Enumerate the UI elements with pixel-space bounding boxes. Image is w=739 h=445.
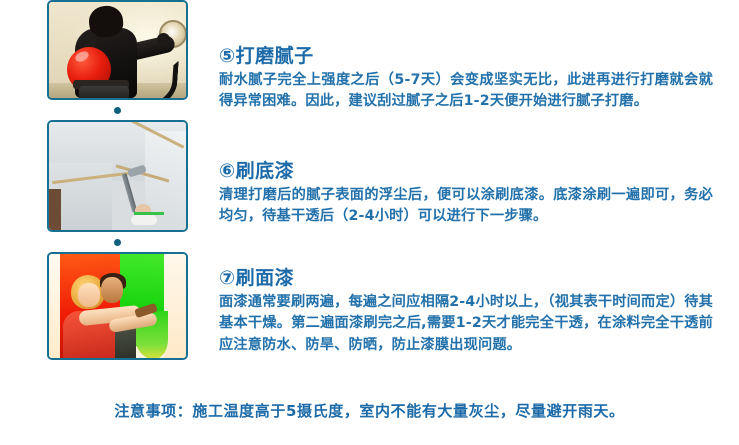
topcoat-painting-photo — [49, 254, 186, 358]
step-5-block: ⑤打磨腻子 耐水腻子完全上强度之后（5-7天）会变成坚实无比，此进再进行打磨就会… — [219, 46, 713, 113]
ceiling-scene — [49, 122, 186, 230]
step-7-block: ⑦刷面漆 面漆通常要刷两遍，每遍之间应相隔2-4小时以上，（视其表干时间而定）待… — [219, 268, 713, 357]
painter-one-face — [78, 283, 100, 307]
photo-separator-1 — [47, 100, 188, 120]
photo-separator-2 — [47, 232, 188, 252]
photo-frame-sanding — [47, 0, 188, 100]
sanding-putty-photo — [49, 2, 186, 98]
photo-frame-topcoat — [47, 252, 188, 360]
door-jamb — [49, 189, 61, 230]
painting-steps-infographic: ⑤打磨腻子 耐水腻子完全上强度之后（5-7天）会变成坚实无比，此进再进行打磨就会… — [0, 0, 739, 445]
primer-ceiling-photo — [49, 122, 186, 230]
step-6-heading: ⑥刷底漆 — [219, 161, 713, 183]
step-6-block: ⑥刷底漆 清理打磨后的腻子表面的浮尘后，便可以涂刷底漆。底漆涂刷一遍即可，务必均… — [219, 161, 713, 228]
step-5-heading: ⑤打磨腻子 — [219, 46, 713, 68]
painter-two-face — [101, 277, 123, 303]
painter-sleeve — [131, 215, 157, 225]
topcoat-scene — [49, 254, 186, 358]
step-7-body: 面漆通常要刷两遍，每遍之间应相隔2-4小时以上，（视其表干时间而定）待其基本干燥… — [219, 292, 713, 357]
step-6-body: 清理打磨后的腻子表面的浮尘后，便可以涂刷底漆。底漆涂刷一遍即可，务必均匀，待基干… — [219, 185, 713, 228]
footer-note: 注意事项：施工温度高于5摄氏度，室内不能有大量灰尘，尽量避开雨天。 — [0, 400, 739, 421]
photo-column — [47, 0, 188, 360]
green-accent-stripe — [134, 212, 164, 215]
step-7-heading: ⑦刷面漆 — [219, 268, 713, 290]
step-5-body: 耐水腻子完全上强度之后（5-7天）会变成坚实无比，此进再进行打磨就会就得异常困难… — [219, 70, 713, 113]
separator-dot-icon — [114, 107, 121, 114]
worker-hand — [157, 33, 170, 46]
separator-dot-icon — [114, 239, 121, 246]
sanding-scene — [49, 2, 186, 98]
photo-frame-primer — [47, 120, 188, 232]
worker-legs — [79, 86, 129, 98]
